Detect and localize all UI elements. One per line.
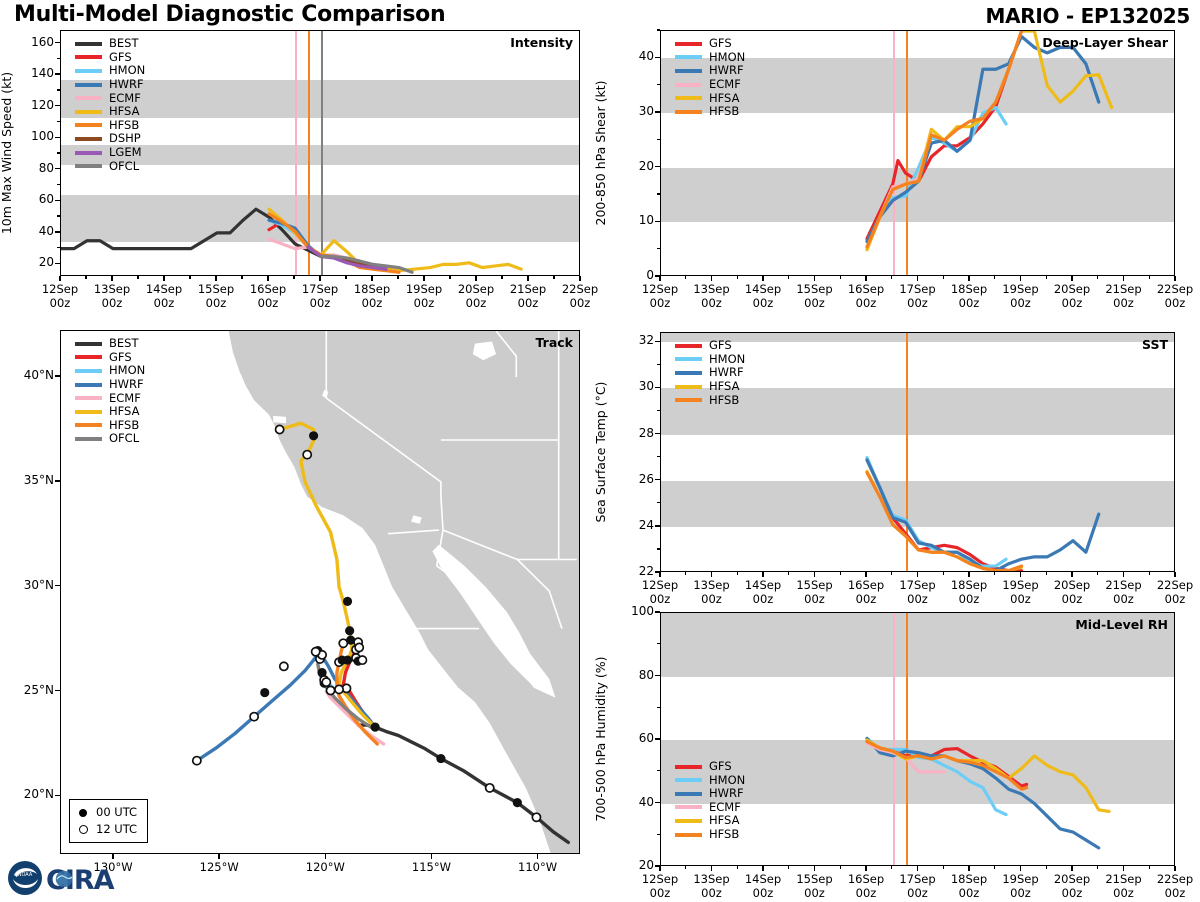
y-minor-tickmark [657, 770, 660, 771]
x-tickmark [1020, 276, 1021, 281]
legend-item-hfsb: HFSB [675, 105, 745, 119]
x-tick-label: 16Sep 00z [238, 282, 298, 310]
legend-item-hwrf: HWRF [75, 378, 145, 392]
series-line-dshp [308, 247, 386, 269]
legend-swatch-hmon [675, 357, 702, 361]
shade-band [661, 388, 1174, 434]
track-line-hfsa [280, 423, 376, 727]
legend-swatch-ofcl [75, 164, 102, 168]
series-line-hfsa [867, 740, 1109, 811]
x-tick-hour: 00z [1010, 886, 1031, 900]
legend-swatch-gfs [675, 344, 702, 348]
legend-swatch-hwrf [675, 371, 702, 375]
series-line-hfsa [867, 31, 1112, 250]
x-tick-day: 12Sep [642, 578, 678, 592]
panel-sst: SSTGFSHMONHWRFHFSAHFSB222426283032Sea Su… [0, 0, 1200, 900]
x-tick-day: 12Sep [642, 872, 678, 886]
y-minor-tickmark [57, 58, 60, 59]
x-tick-day: 18Sep [951, 578, 987, 592]
legend-label-hwrf: HWRF [709, 366, 744, 379]
x-minor-tickmark [685, 572, 686, 575]
track-marker-12utc [312, 648, 320, 656]
y-tickmark [655, 865, 660, 866]
x-tick-hour: 00z [1010, 592, 1031, 606]
x-minor-tickmark [241, 276, 242, 279]
y-minor-tickmark [657, 502, 660, 503]
x-minor-tickmark [1097, 276, 1098, 279]
shade-band [661, 613, 1174, 677]
y-tick-label: 24 [612, 518, 654, 532]
legend-item-hfsb: HFSB [75, 419, 145, 433]
x-tick-label: 19Sep 00z [991, 872, 1051, 900]
track-marker-00utc [343, 597, 352, 606]
series-line-hfsb [867, 742, 1027, 790]
x-tick-hour: 00z [907, 592, 928, 606]
x-tick-label: 16Sep 00z [836, 578, 896, 606]
x-minor-tickmark [891, 276, 892, 279]
y-tickmark [55, 375, 60, 376]
legend-item-hfsa: HFSA [675, 380, 745, 394]
y-tickmark [55, 168, 60, 169]
legend-item-hmon: HMON [675, 773, 745, 787]
x-tick-day: 13Sep [94, 282, 130, 296]
x-tick-hour: 00z [1062, 592, 1083, 606]
legend-item-hmon: HMON [675, 51, 745, 65]
x-minor-tickmark [1046, 572, 1047, 575]
x-tick-label: 110°W [503, 860, 573, 874]
y-tickmark [55, 42, 60, 43]
x-tick-label: 12Sep 00z [630, 282, 690, 310]
x-tick-label: 14Sep 00z [733, 872, 793, 900]
legend-item-hwrf: HWRF [675, 787, 745, 801]
x-tick-label: 18Sep 00z [342, 282, 402, 310]
border-ca-baja [388, 530, 439, 534]
x-tick-label: 18Sep 00z [939, 578, 999, 606]
x-tick-hour: 00z [362, 296, 383, 310]
vline-ofcl-init [321, 31, 323, 275]
x-tickmark [537, 854, 538, 859]
svg-text:NOAA: NOAA [18, 872, 33, 878]
track-marker-00utc [346, 636, 355, 645]
marker-legend-item: 12 UTC [70, 821, 137, 838]
x-tick-label: 20Sep 00z [1042, 578, 1102, 606]
y-tickmark [655, 387, 660, 388]
x-tickmark [579, 276, 580, 281]
x-minor-tickmark [891, 572, 892, 575]
track-marker-12utc [193, 757, 201, 765]
y-tickmark [655, 221, 660, 222]
x-tickmark [917, 276, 918, 281]
x-tick-hour: 00z [1113, 296, 1134, 310]
x-tick-day: 20Sep [1054, 578, 1090, 592]
x-tick-day: 19Sep [1002, 578, 1038, 592]
track-line-hwrf [197, 650, 375, 761]
series-line-gfs [269, 222, 399, 271]
y-tickmark [655, 166, 660, 167]
legend-label-hmon: HMON [709, 774, 745, 787]
legend-label-hwrf: HWRF [709, 787, 744, 800]
track-marker-12utc [486, 784, 494, 792]
shade-band [661, 58, 1174, 113]
x-tick-label: 22Sep 00z [1145, 872, 1200, 900]
legend-label-hmon: HMON [709, 51, 745, 64]
track-marker-00utc [436, 754, 445, 763]
x-minor-tickmark [397, 276, 398, 279]
x-tickmark [1174, 276, 1175, 281]
y-tickmark [655, 275, 660, 276]
legend-shear: GFSHMONHWRFECMFHFSAHFSB [675, 37, 745, 119]
panel-title-track: Track [536, 335, 573, 350]
track-marker-12utc [320, 676, 328, 684]
y-tickmark [55, 795, 60, 796]
y-minor-tickmark [657, 29, 660, 30]
x-tick-hour: 00z [50, 296, 71, 310]
y-tick-label: 30°N [8, 578, 54, 592]
y-axis-label-shear: 200-850 hPa Shear (kt) [593, 81, 608, 226]
x-tick-day: 15Sep [796, 282, 832, 296]
x-tick-day: 22Sep [1157, 578, 1193, 592]
x-minor-tickmark [788, 572, 789, 575]
x-minor-tickmark [449, 276, 450, 279]
y-tick-label: 20°N [8, 787, 54, 801]
panel-track: TrackBESTGFSHMONHWRFECMFHFSAHFSBOFCL00 U… [0, 0, 1200, 900]
marker-legend-label: 00 UTC [96, 806, 137, 819]
x-tick-label: 16Sep 00z [836, 872, 896, 900]
plot-area-intensity: IntensityBESTGFSHMONHWRFECMFHFSAHFSBDSHP… [60, 30, 580, 276]
marker-12utc-icon [79, 825, 88, 834]
x-tickmark [111, 276, 112, 281]
legend-item-gfs: GFS [75, 51, 145, 65]
x-minor-tickmark [994, 572, 995, 575]
series-line-hwrf [269, 220, 412, 270]
map-salton-sea [411, 515, 422, 523]
legend-swatch-ecmf [75, 396, 102, 400]
x-tick-label: 15Sep 00z [186, 282, 246, 310]
legend-swatch-gfs [75, 355, 102, 359]
x-tick-day: 21Sep [1105, 578, 1141, 592]
series-line-hwrf [867, 460, 1099, 571]
legend-item-ecmf: ECMF [675, 78, 745, 92]
x-minor-tickmark [553, 276, 554, 279]
x-tick-day: 12Sep [42, 282, 78, 296]
x-tickmark [814, 572, 815, 577]
shade-band [661, 481, 1174, 527]
track-marker-00utc [260, 688, 269, 697]
x-tick-day: 20Sep [1054, 872, 1090, 886]
legend-label-hmon: HMON [709, 353, 745, 366]
track-marker-00utc [371, 723, 380, 732]
x-tick-hour: 00z [753, 886, 774, 900]
y-minor-tickmark [57, 121, 60, 122]
y-minor-tickmark [657, 139, 660, 140]
track-marker-00utc [343, 655, 352, 664]
x-minor-tickmark [737, 572, 738, 575]
x-tickmark [1020, 572, 1021, 577]
y-minor-tickmark [57, 215, 60, 216]
series-line-best [61, 209, 321, 256]
plot-area-track: TrackBESTGFSHMONHWRFECMFHFSAHFSBOFCL00 U… [60, 330, 580, 854]
track-line-hfsb [337, 643, 377, 744]
y-tick-label: 26 [612, 472, 654, 486]
x-tick-day: 19Sep [406, 282, 442, 296]
legend-rh: GFSHMONHWRFECMFHFSAHFSB [675, 760, 745, 842]
y-tick-label: 10 [612, 213, 654, 227]
shade-band [661, 740, 1174, 804]
legend-item-hwrf: HWRF [675, 64, 745, 78]
x-tick-day: 20Sep [458, 282, 494, 296]
x-tick-day: 13Sep [693, 872, 729, 886]
legend-swatch-hfsa [75, 110, 102, 114]
x-minor-tickmark [1097, 572, 1098, 575]
x-tickmark [371, 276, 372, 281]
series-line-gfs [867, 742, 1027, 786]
legend-item-hwrf: HWRF [675, 366, 745, 380]
y-minor-tickmark [57, 247, 60, 248]
legend-item-hfsa: HFSA [675, 91, 745, 105]
legend-item-hfsb: HFSB [75, 119, 145, 133]
y-tickmark [655, 802, 660, 803]
y-tick-label: 32 [612, 333, 654, 347]
y-tick-label: 40°N [8, 368, 54, 382]
x-tickmark [968, 866, 969, 871]
x-tick-label: 13Sep 00z [682, 282, 742, 310]
panel-shear: Deep-Layer ShearGFSHMONHWRFECMFHFSAHFSB0… [0, 0, 1200, 900]
legend-label-ecmf: ECMF [709, 801, 741, 814]
x-tickmark [1071, 572, 1072, 577]
x-tick-label: 19Sep 00z [991, 282, 1051, 310]
x-tick-day: 22Sep [562, 282, 598, 296]
x-tick-hour: 00z [804, 886, 825, 900]
legend-label-hfsa: HFSA [709, 380, 739, 393]
x-tick-hour: 00z [959, 886, 980, 900]
y-minor-tickmark [657, 834, 660, 835]
x-tickmark [163, 276, 164, 281]
map-layer [61, 331, 580, 854]
legend-item-ecmf: ECMF [75, 91, 145, 105]
y-tick-label: 80 [612, 668, 654, 682]
y-tickmark [55, 105, 60, 106]
x-tick-hour: 00z [701, 592, 722, 606]
x-tick-hour: 00z [154, 296, 175, 310]
x-tick-label: 120°W [290, 860, 360, 874]
vline-ecmf-init [893, 613, 895, 865]
track-marker-00utc [354, 657, 363, 666]
legend-label-hfsb: HFSB [709, 105, 739, 118]
y-tickmark [55, 263, 60, 264]
x-tick-label: 19Sep 00z [394, 282, 454, 310]
x-tick-day: 17Sep [899, 872, 935, 886]
legend-swatch-hfsb [675, 110, 702, 114]
x-tickmark [319, 276, 320, 281]
y-tick-label: 60 [612, 731, 654, 745]
x-tick-label: 13Sep 00z [82, 282, 142, 310]
x-tickmark [968, 276, 969, 281]
legend-item-gfs: GFS [675, 37, 745, 51]
vline-ecmf-init [295, 31, 297, 275]
track-marker-12utc [326, 686, 334, 694]
legend-track: BESTGFSHMONHWRFECMFHFSAHFSBOFCL [75, 337, 145, 446]
x-tick-hour: 00z [701, 296, 722, 310]
y-minor-tickmark [57, 89, 60, 90]
y-tick-label: 100 [612, 604, 654, 618]
y-tick-label: 28 [612, 426, 654, 440]
y-tickmark [55, 585, 60, 586]
y-tickmark [655, 57, 660, 58]
x-tick-hour: 00z [1062, 886, 1083, 900]
y-tick-label: 160 [12, 35, 54, 49]
y-minor-tickmark [657, 248, 660, 249]
panel-title-intensity: Intensity [510, 35, 573, 50]
series-line-hwrf [867, 36, 1099, 241]
y-tickmark [55, 231, 60, 232]
legend-swatch-hfsa [75, 410, 102, 414]
y-minor-tickmark [657, 548, 660, 549]
legend-item-hfsa: HFSA [675, 814, 745, 828]
x-tick-hour: 00z [310, 296, 331, 310]
plot-area-shear: Deep-Layer ShearGFSHMONHWRFECMFHFSAHFSB [660, 30, 1175, 276]
legend-swatch-gfs [675, 42, 702, 46]
x-tick-hour: 00z [804, 296, 825, 310]
legend-swatch-ecmf [75, 96, 102, 100]
border-ut-wy [496, 331, 516, 377]
legend-label-hfsb: HFSB [109, 119, 139, 132]
legend-label-hmon: HMON [109, 364, 145, 377]
legend-item-hmon: HMON [75, 64, 145, 78]
x-tickmark [218, 854, 219, 859]
legend-label-hfsb: HFSB [709, 828, 739, 841]
x-tick-hour: 00z [206, 296, 227, 310]
legend-item-hmon: HMON [75, 364, 145, 378]
y-tick-label: 25°N [8, 683, 54, 697]
x-tick-label: 15Sep 00z [785, 578, 845, 606]
x-tick-hour: 00z [1165, 296, 1186, 310]
legend-swatch-dshp [75, 137, 102, 141]
legend-swatch-hfsa [675, 819, 702, 823]
track-line-best [358, 725, 568, 842]
series-line-hmon [867, 108, 1006, 242]
x-tick-hour: 00z [959, 296, 980, 310]
x-minor-tickmark [737, 276, 738, 279]
legend-swatch-hfsb [75, 123, 102, 127]
x-tick-day: 18Sep [354, 282, 390, 296]
x-tick-label: 125°W [184, 860, 254, 874]
x-minor-tickmark [685, 276, 686, 279]
series-line-hfsb [269, 214, 399, 272]
series-layer-rh [661, 613, 1175, 866]
legend-item-hfsa: HFSA [75, 105, 145, 119]
legend-item-hfsb: HFSB [675, 828, 745, 842]
track-marker-00utc [338, 655, 347, 664]
y-tickmark [655, 479, 660, 480]
x-tick-hour: 00z [1165, 886, 1186, 900]
panel-title-shear: Deep-Layer Shear [1042, 35, 1168, 50]
x-tickmark [865, 866, 866, 871]
x-minor-tickmark [788, 866, 789, 869]
legend-item-hfsb: HFSB [675, 393, 745, 407]
x-tick-hour: 00z [753, 592, 774, 606]
legend-label-hfsa: HFSA [109, 105, 139, 118]
x-tick-day: 18Sep [951, 282, 987, 296]
legend-label-ecmf: ECMF [709, 78, 741, 91]
x-minor-tickmark [994, 276, 995, 279]
x-minor-tickmark [891, 866, 892, 869]
x-tickmark [711, 276, 712, 281]
x-tick-day: 19Sep [1002, 282, 1038, 296]
x-tickmark [527, 276, 528, 281]
page-title: Multi-Model Diagnostic Comparison [14, 2, 445, 27]
y-minor-tickmark [657, 84, 660, 85]
legend-item-ofcl: OFCL [75, 159, 145, 173]
x-tickmark [711, 572, 712, 577]
x-tick-hour: 00z [570, 296, 591, 310]
shade-band [661, 333, 1174, 342]
x-minor-tickmark [189, 276, 190, 279]
cira-wordmark: CIRA [46, 865, 115, 896]
x-tick-day: 16Sep [848, 578, 884, 592]
x-tick-hour: 00z [650, 886, 671, 900]
x-minor-tickmark [85, 276, 86, 279]
legend-swatch-hmon [75, 369, 102, 373]
x-tick-label: 14Sep 00z [733, 282, 793, 310]
legend-swatch-hfsb [675, 833, 702, 837]
storm-id-title: MARIO - EP132025 [986, 4, 1190, 28]
x-tickmark [267, 276, 268, 281]
x-tick-label: 21Sep 00z [1094, 282, 1154, 310]
legend-item-hfsa: HFSA [75, 405, 145, 419]
y-tickmark [655, 738, 660, 739]
y-tick-label: 20 [612, 159, 654, 173]
x-minor-tickmark [1149, 572, 1150, 575]
x-minor-tickmark [501, 276, 502, 279]
legend-sst: GFSHMONHWRFHFSAHFSB [675, 339, 745, 407]
x-tick-label: 22Sep 00z [1145, 578, 1200, 606]
track-line-gfs [343, 650, 375, 728]
x-tick-hour: 00z [753, 296, 774, 310]
series-layer-sst [661, 333, 1175, 572]
y-axis-label-sst: Sea Surface Temp (°C) [593, 382, 608, 523]
x-tickmark [968, 572, 969, 577]
legend-item-lgem: LGEM [75, 146, 145, 160]
track-marker-12utc [342, 684, 350, 692]
track-marker-12utc [322, 678, 330, 686]
x-tick-label: 16Sep 00z [836, 282, 896, 310]
x-tick-label: 22Sep 00z [550, 282, 610, 310]
x-tick-hour: 00z [1062, 296, 1083, 310]
x-tick-label: 17Sep 00z [888, 578, 948, 606]
y-minor-tickmark [657, 456, 660, 457]
y-axis-label-intensity: 10m Max Wind Speed (kt) [0, 72, 14, 234]
marker-legend: 00 UTC12 UTC [69, 799, 148, 843]
y-tickmark [655, 675, 660, 676]
legend-label-dshp: DSHP [109, 132, 141, 145]
x-minor-tickmark [737, 866, 738, 869]
x-tickmark [1123, 572, 1124, 577]
track-marker-12utc [318, 651, 326, 659]
track-marker-12utc [339, 639, 347, 647]
legend-swatch-gfs [675, 765, 702, 769]
series-line-hmon [867, 458, 1006, 566]
x-tick-hour: 00z [1010, 296, 1031, 310]
series-line-hwrf [867, 738, 1099, 848]
y-tick-label: 30 [612, 379, 654, 393]
x-tick-day: 21Sep [510, 282, 546, 296]
x-tick-label: 13Sep 00z [682, 578, 742, 606]
legend-item-gfs: GFS [75, 351, 145, 365]
x-tickmark [325, 854, 326, 859]
series-line-hfsb [867, 31, 1022, 247]
track-marker-12utc [303, 451, 311, 459]
x-minor-tickmark [943, 276, 944, 279]
